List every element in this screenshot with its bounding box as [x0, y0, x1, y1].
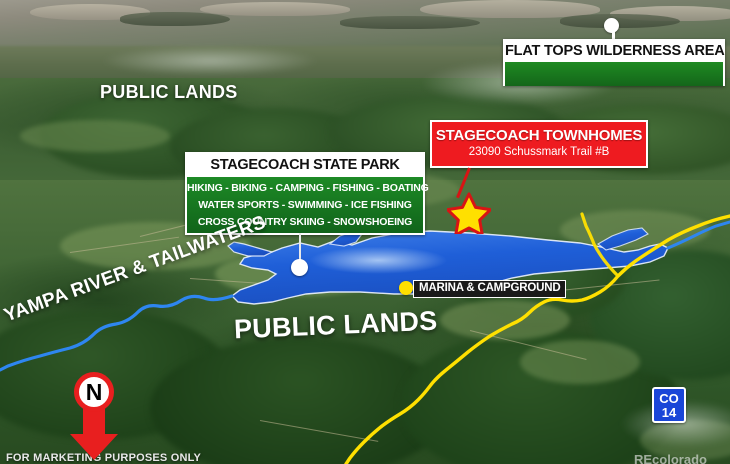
ridge-shadow — [560, 14, 680, 28]
ridge-rock-outcrop — [200, 2, 350, 16]
activity-line: HIKING - BIKING - CAMPING - FISHING - BO… — [187, 180, 423, 197]
shield-route-number: 14 — [654, 406, 684, 420]
atmospheric-haze — [100, 46, 320, 76]
state-park-marker-dot — [291, 259, 308, 276]
state-park-activities: HIKING - BIKING - CAMPING - FISHING - BO… — [187, 177, 423, 233]
flat-tops-color-band — [505, 62, 723, 86]
shield-state: CO — [654, 391, 684, 406]
label-flat-tops-wilderness-area: FLAT TOPS WILDERNESS AREA — [503, 39, 725, 86]
ridge-shadow — [120, 12, 230, 26]
state-park-title: STAGECOACH STATE PARK — [187, 154, 423, 177]
annotation-public-lands-north: PUBLIC LANDS — [100, 82, 238, 103]
meadow-patch — [20, 120, 170, 152]
highway-shield-co-14: CO 14 — [652, 387, 686, 423]
townhomes-address: 23090 Schussmark Trail #B — [432, 146, 646, 158]
north-letter: N — [74, 372, 114, 412]
marina-marker-dot — [399, 281, 413, 295]
ridge-shadow — [340, 16, 480, 29]
north-arrow-compass: N — [63, 372, 125, 460]
recolorado-watermark: REcolorado — [634, 452, 707, 464]
label-stagecoach-townhomes: STAGECOACH TOWNHOMES 23090 Schussmark Tr… — [430, 120, 648, 168]
star-marker-icon — [447, 192, 491, 234]
label-stagecoach-state-park: STAGECOACH STATE PARK HIKING - BIKING - … — [185, 152, 425, 235]
flat-tops-title: FLAT TOPS WILDERNESS AREA — [505, 41, 723, 62]
townhomes-title: STAGECOACH TOWNHOMES — [432, 127, 646, 144]
meadow-patch — [560, 210, 710, 250]
aerial-map-graphic: FLAT TOPS WILDERNESS AREA STAGECOACH TOW… — [0, 0, 730, 464]
meadow-patch — [440, 300, 570, 340]
activity-line: WATER SPORTS - SWIMMING - ICE FISHING — [187, 197, 423, 214]
label-marina-campground: MARINA & CAMPGROUND — [413, 280, 566, 298]
